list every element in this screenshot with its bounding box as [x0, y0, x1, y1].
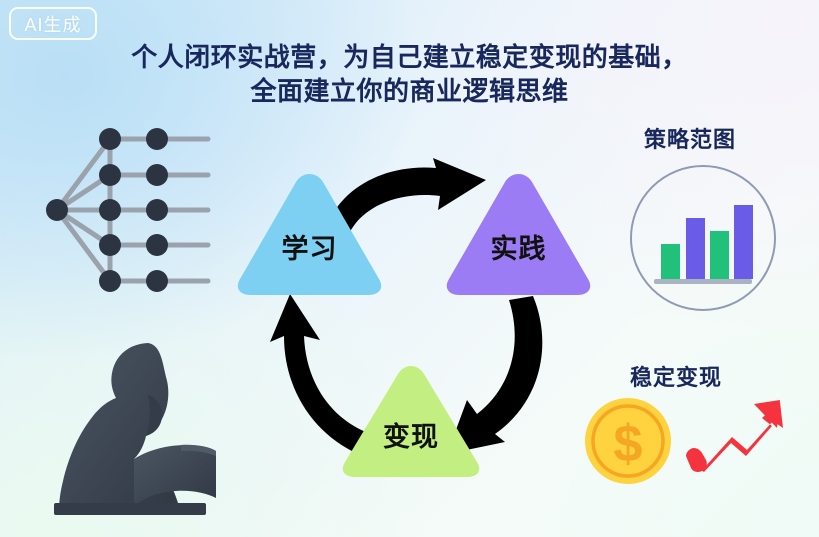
svg-text:$: $ — [614, 415, 643, 473]
income-panel-label: 稳定变现 — [630, 360, 722, 392]
network-tree-icon — [40, 125, 215, 295]
ai-generated-badge: AI生成 — [9, 7, 97, 40]
dollar-coin-icon: $ — [583, 396, 673, 486]
trend-up-arrow-icon — [684, 398, 784, 476]
page-title-line-1: 个人闭环实战营，为自己建立稳定变现的基础， — [131, 42, 688, 72]
page-title-line-2: 全面建立你的商业逻辑思维 — [0, 74, 819, 108]
cycle-node-practice-label: 实践 — [441, 227, 596, 266]
cycle-node-monetize[interactable]: 变现 — [337, 360, 485, 482]
bar-chart-circle-icon — [628, 163, 778, 313]
person-reading-icon — [30, 335, 245, 525]
cycle-node-practice[interactable]: 实践 — [441, 168, 596, 300]
infographic-canvas: AI生成 个人闭环实战营，为自己建立稳定变现的基础， 全面建立你的商业逻辑思维 — [0, 0, 819, 537]
cycle-node-learn[interactable]: 学习 — [232, 168, 387, 300]
strategy-panel-label: 策略范图 — [644, 122, 736, 154]
page-title: 个人闭环实战营，为自己建立稳定变现的基础， 全面建立你的商业逻辑思维 — [0, 40, 819, 108]
cycle-node-monetize-label: 变现 — [337, 415, 485, 454]
cycle-node-learn-label: 学习 — [232, 227, 387, 266]
ai-generated-badge-label: AI生成 — [24, 11, 81, 37]
